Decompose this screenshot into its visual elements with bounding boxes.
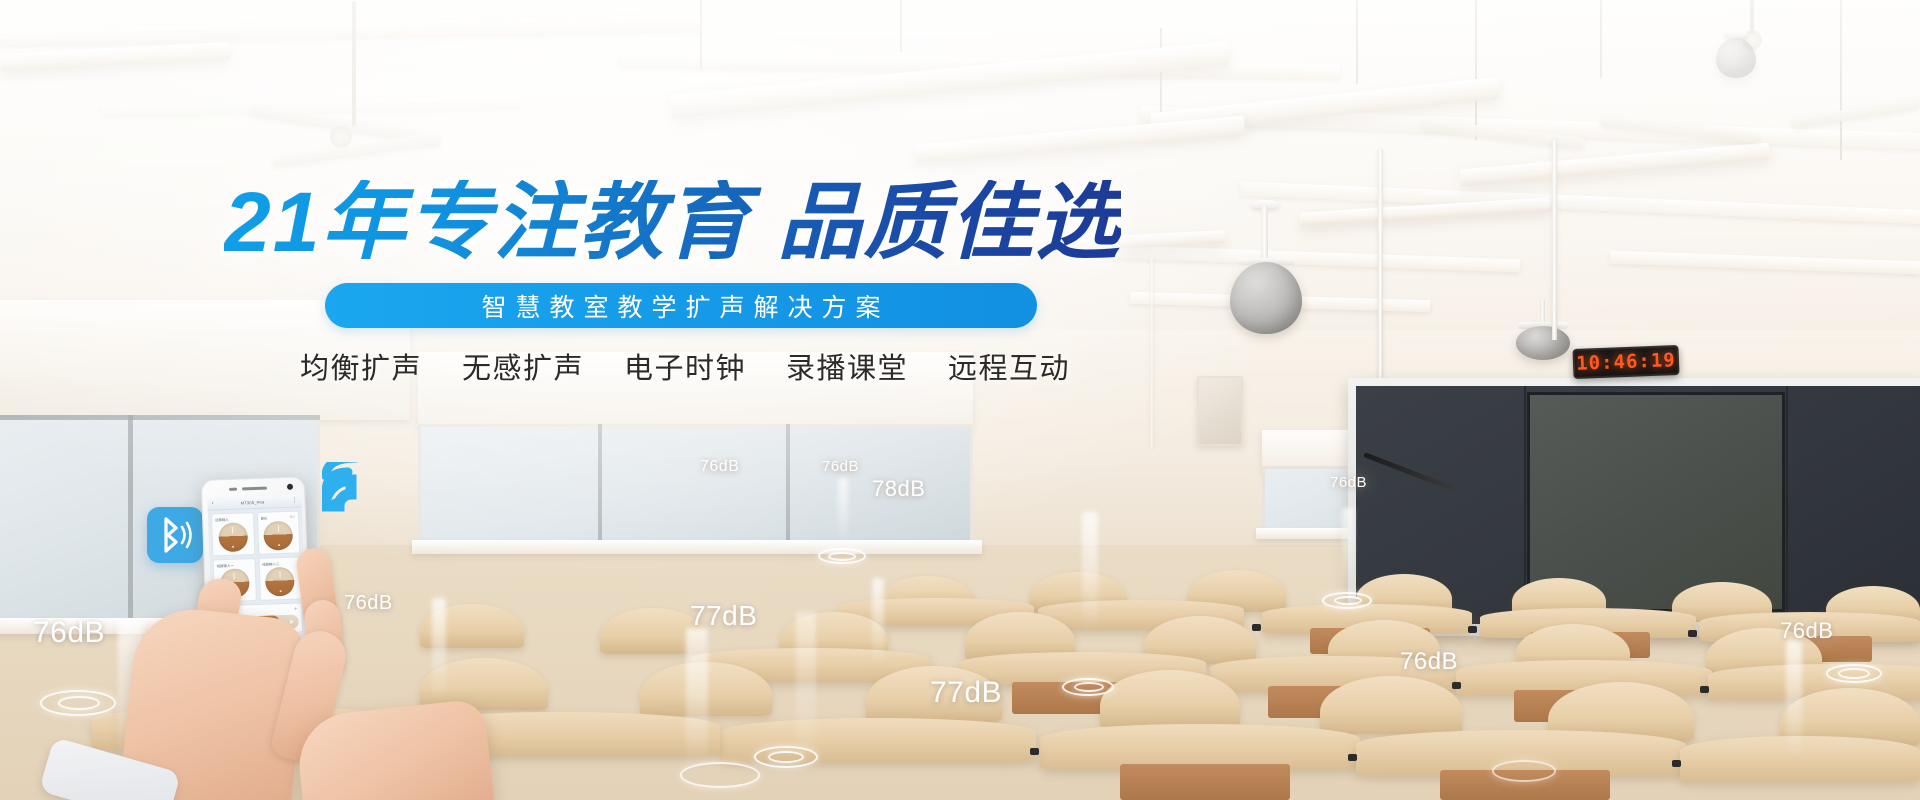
fan-rod — [352, 2, 356, 126]
desk-leg-cap — [1452, 682, 1461, 689]
mode-select-button[interactable]: 模式选择 — [215, 637, 258, 654]
rotary-knob[interactable] — [263, 521, 293, 551]
volume-slider-handle[interactable] — [290, 619, 294, 624]
db-label: 78dB — [872, 476, 925, 502]
window-mullion — [786, 424, 790, 546]
vertical-pole — [1150, 258, 1154, 448]
master-volume-card[interactable]: 总音量 + — [214, 602, 303, 635]
electronic-clock: 10:46:19 — [1572, 345, 1679, 379]
feature-list: 均衡扩声 无感扩声 电子时钟 录播课堂 远程互动 — [300, 345, 1070, 387]
phone-front-camera — [287, 484, 293, 490]
settings-button[interactable]: 设置 — [261, 635, 304, 652]
knob-card-label: 线路输入二 — [262, 561, 297, 567]
window-sill — [412, 540, 982, 554]
rotary-knob[interactable] — [218, 522, 248, 552]
desk-leg-cap — [1348, 754, 1357, 761]
window-mullion — [128, 415, 133, 625]
speaker-rod — [1261, 206, 1268, 258]
desk-front-panel — [1120, 764, 1290, 800]
lamp-rod — [1600, 0, 1602, 78]
phone-screen[interactable]: ‹ MT300_P04 ⋮ 话筒输入 音乐 MIX 线路输入一 — [207, 494, 307, 665]
db-label: 76dB — [700, 458, 739, 476]
smartphone-mockup[interactable]: ‹ MT300_P04 ⋮ 话筒输入 音乐 MIX 线路输入一 — [201, 476, 312, 670]
phone-earpiece — [242, 487, 267, 491]
volume-slider-fill — [219, 615, 280, 631]
knob-card-grid: 话筒输入 音乐 MIX 线路输入一 线路输入二 — [208, 507, 305, 605]
lamp-rod — [900, 0, 902, 52]
desk-front-panel — [1440, 770, 1610, 800]
menu-icon[interactable]: ⋮ — [291, 498, 297, 504]
desk-leg-cap — [1252, 624, 1261, 631]
lamp-rod — [1356, 0, 1358, 84]
page-title: 21年专注教育品质佳选 — [224, 180, 1121, 264]
vertical-pole — [1552, 140, 1557, 340]
knob-card-tag: MIX — [290, 515, 295, 519]
clock-time: 10:46:19 — [1576, 349, 1676, 375]
blackboard-divider — [1786, 386, 1788, 624]
master-volume-label: 总音量 — [218, 607, 298, 615]
db-label: 77dB — [690, 600, 757, 632]
feature-item-4: 远程互动 — [948, 345, 1070, 387]
desk-leg-cap — [1672, 760, 1681, 767]
db-label: 77dB — [930, 676, 1002, 710]
knob-card[interactable]: 音乐 MIX — [256, 510, 300, 554]
app-device-name: MT300_P04 — [213, 498, 291, 506]
desk-top — [1680, 736, 1920, 782]
mode-select-label: 模式选择 — [218, 643, 231, 648]
phone-sensor — [229, 488, 237, 491]
wall-control-panel — [1197, 376, 1243, 446]
desk-leg-cap — [1700, 686, 1709, 693]
subtitle-text: 智慧教室教学扩声解决方案 — [472, 288, 889, 324]
lamp-rod — [700, 0, 702, 70]
db-label: 76dB — [1330, 474, 1367, 491]
db-label: 76dB — [1780, 618, 1833, 644]
add-icon[interactable]: + — [294, 607, 298, 613]
speaker-ceiling-mount — [1725, 30, 1747, 38]
lamp-rod — [1475, 0, 1477, 140]
knob-card-label: 线路输入一 — [217, 562, 252, 568]
bottom-button-row: 模式选择 设置 — [212, 635, 307, 654]
desk-top — [92, 706, 404, 750]
window-mullion — [0, 415, 320, 420]
desk-leg-cap — [1688, 630, 1697, 637]
subtitle-pill: 智慧教室教学扩声解决方案 — [325, 283, 1037, 328]
db-label: 76dB — [344, 592, 393, 615]
desk-top — [400, 712, 720, 756]
headline-part-1: 21年专注教育 — [224, 175, 751, 269]
rotary-knob[interactable] — [220, 568, 250, 598]
feature-item-0: 均衡扩声 — [300, 345, 422, 387]
speaker-rod — [1540, 300, 1545, 324]
feature-item-2: 电子时钟 — [624, 345, 746, 387]
pendant-speaker — [1716, 38, 1756, 78]
fan-rod — [1750, 0, 1754, 34]
desk-leg-cap — [1030, 748, 1039, 755]
volume-slider-track[interactable] — [219, 615, 299, 632]
db-label: 76dB — [1400, 648, 1458, 676]
desk-top — [720, 718, 1036, 762]
lamp-rod — [1840, 0, 1842, 160]
knob-card-label: 话筒输入 — [215, 516, 250, 522]
db-label: 76dB — [33, 616, 105, 650]
feature-item-1: 无感扩声 — [462, 345, 584, 387]
pendant-speaker — [1516, 326, 1570, 360]
window-mullion — [598, 424, 602, 546]
wifi-signal-icon — [322, 462, 382, 514]
settings-label: 设置 — [264, 642, 271, 647]
rotary-knob[interactable] — [265, 567, 295, 597]
desk-leg-cap — [1468, 626, 1477, 633]
knob-card[interactable]: 线路输入一 — [213, 558, 257, 602]
knob-card[interactable]: 话筒输入 — [211, 512, 255, 556]
classroom-banner: 10:46:19 — [0, 0, 1920, 800]
headline-part-2: 品质佳选 — [777, 175, 1121, 269]
mode-indicator-icon — [241, 641, 255, 649]
ceiling-fan-hub — [330, 126, 352, 148]
feature-item-3: 录播课堂 — [786, 345, 908, 387]
knob-card[interactable]: 线路输入二 — [258, 556, 302, 600]
db-label: 76dB — [822, 458, 859, 475]
pendant-speaker — [1230, 262, 1302, 334]
bluetooth-icon[interactable] — [147, 507, 203, 563]
